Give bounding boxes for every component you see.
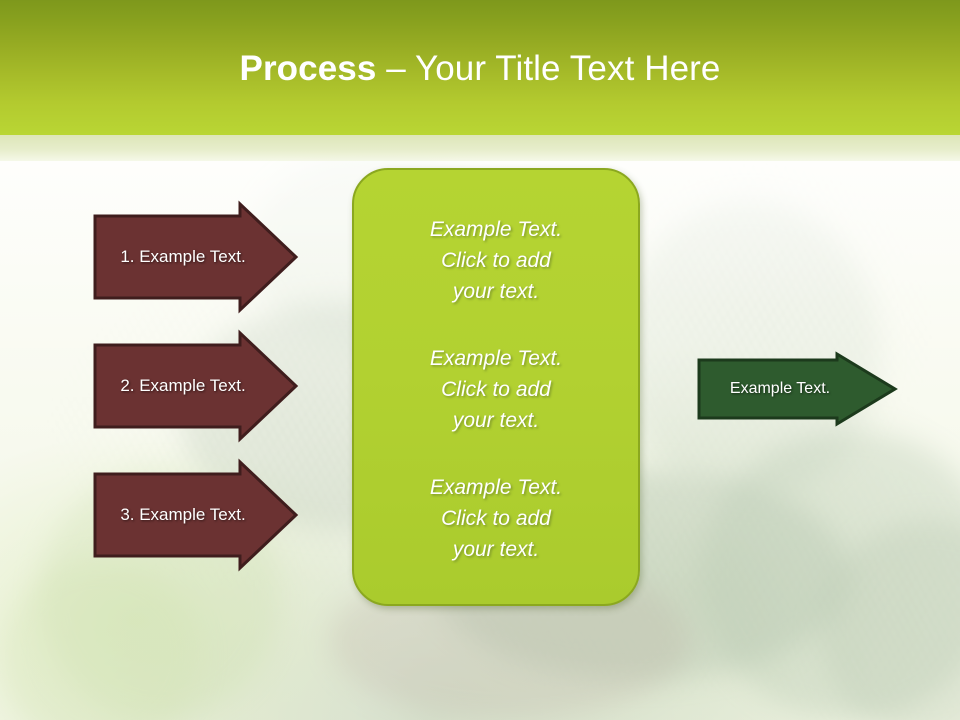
- arrow-right-shape-icon: [93, 460, 298, 570]
- arrow-right-shape-icon: [93, 202, 298, 312]
- process-result-arrow[interactable]: Example Text.: [697, 352, 897, 426]
- center-panel-text-block-1: Example Text. Click to add your text.: [386, 214, 606, 307]
- slide-canvas: Process – Your Title Text Here 1. Exampl…: [0, 0, 960, 720]
- arrow-right-shape-icon: [93, 331, 298, 441]
- center-panel-text-block-2: Example Text. Click to add your text.: [386, 343, 606, 436]
- page-title: Process – Your Title Text Here: [0, 47, 960, 91]
- header-sub-band: [0, 135, 960, 161]
- process-step-arrow-3[interactable]: 3. Example Text.: [93, 460, 298, 570]
- process-step-arrow-1[interactable]: 1. Example Text.: [93, 202, 298, 312]
- arrow-right-shape-icon: [697, 352, 897, 426]
- page-title-strong: Process: [240, 49, 377, 88]
- process-step-arrow-2[interactable]: 2. Example Text.: [93, 331, 298, 441]
- center-panel-text-block-3: Example Text. Click to add your text.: [386, 472, 606, 565]
- process-center-panel[interactable]: Example Text. Click to add your text. Ex…: [352, 168, 640, 606]
- page-title-rest: – Your Title Text Here: [376, 49, 720, 88]
